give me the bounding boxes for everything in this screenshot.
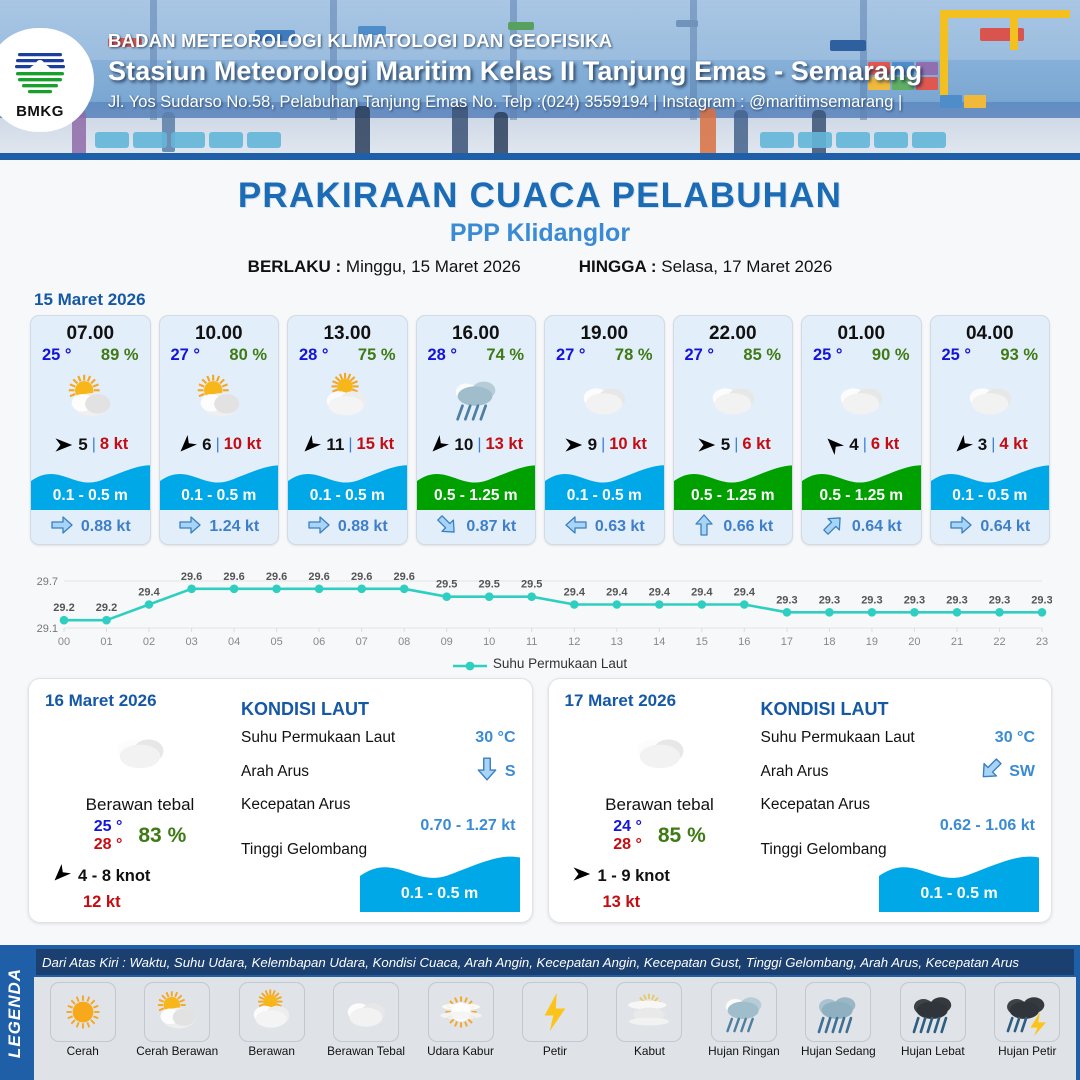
svg-text:06: 06 <box>313 636 325 648</box>
card-wave-height: 0.1 - 0.5 m <box>288 487 407 505</box>
panel-temp-col: 24 ° 28 ° <box>613 818 642 855</box>
card-separator: | <box>92 436 96 454</box>
svg-text:29.4: 29.4 <box>138 587 160 599</box>
svg-text:29.6: 29.6 <box>223 571 244 583</box>
card-current-row: 0.64 kt <box>931 510 1050 544</box>
card-time: 19.00 <box>545 316 664 345</box>
wind-direction-icon <box>51 864 71 889</box>
panel-condition: Berawan tebal <box>565 795 755 815</box>
legend-item-label: Berawan <box>248 1045 295 1057</box>
card-current-row: 0.63 kt <box>545 510 664 544</box>
card-wind-row: 11 | 15 kt <box>288 429 407 460</box>
berawan-tebal-icon <box>674 367 793 429</box>
svg-text:17: 17 <box>781 636 793 648</box>
svg-text:22: 22 <box>993 636 1005 648</box>
svg-text:29.2: 29.2 <box>96 602 117 614</box>
svg-text:29.4: 29.4 <box>734 587 756 599</box>
current-direction-icon <box>564 513 588 542</box>
legend-bar: LEGENDA Dari Atas Kiri : Waktu, Suhu Uda… <box>0 945 1080 1080</box>
card-wind-row: 3 | 4 kt <box>931 429 1050 460</box>
legend-item-row: Cerah Cerah Berawan Berawan Berawan Teba… <box>34 977 1076 1080</box>
hujan-sedang-icon <box>805 982 871 1042</box>
svg-text:08: 08 <box>398 636 410 648</box>
sst-chart-svg: 29.729.129.20029.20129.40229.60329.60429… <box>28 557 1052 652</box>
sst-row: Suhu Permukaan Laut 30 °C <box>241 729 516 747</box>
sst-label: Suhu Permukaan Laut <box>761 729 915 747</box>
card-wave-block: 0.5 - 1.25 m <box>674 460 793 510</box>
card-wave-height: 0.5 - 1.25 m <box>802 487 921 505</box>
svg-text:29.6: 29.6 <box>266 571 287 583</box>
current-direction-icon <box>178 513 202 542</box>
legend-item: Cerah Berawan <box>132 982 221 1078</box>
page-header: BMKG BADAN METEOROLOGI KLIMATOLOGI DAN G… <box>0 0 1080 160</box>
hujan-ringan-icon <box>711 982 777 1042</box>
svg-text:29.3: 29.3 <box>1031 594 1052 606</box>
card-gust: 6 kt <box>871 435 899 454</box>
agency-name: BADAN METEOROLOGI KLIMATOLOGI DAN GEOFIS… <box>108 30 1058 52</box>
berawan-tebal-icon <box>931 367 1050 429</box>
current-direction-icon <box>949 513 973 542</box>
card-gust: 10 kt <box>609 435 647 454</box>
card-wind-speed: 3 <box>978 435 987 455</box>
sea-condition-title: KONDISI LAUT <box>241 699 516 720</box>
legend-side-label: LEGENDA <box>0 945 30 1080</box>
panel-wind-row: 4 - 8 knot <box>45 864 235 889</box>
current-speed-row: Kecepatan Arus 0.70 - 1.27 kt <box>241 796 516 835</box>
card-gust: 15 kt <box>357 435 395 454</box>
card-temperature: 25 ° <box>813 346 843 365</box>
petir-icon <box>522 982 588 1042</box>
card-current-speed: 0.64 kt <box>852 518 902 536</box>
legend-item-label: Petir <box>543 1045 567 1057</box>
forecast-card[interactable]: 10.00 27 ° 80 % 6 | 10 kt 0.1 - 0.5 m 1.… <box>159 315 280 545</box>
current-direction-value: SW <box>1009 763 1035 781</box>
hingga-label: HINGGA : <box>579 257 657 276</box>
wind-direction-icon <box>52 435 74 455</box>
panel-date: 16 Maret 2026 <box>45 691 235 711</box>
svg-text:19: 19 <box>866 636 878 648</box>
legend-item: Cerah <box>38 982 127 1078</box>
chart-legend-marker-icon <box>453 659 487 669</box>
udara-kabur-icon <box>428 982 494 1042</box>
card-humidity: 80 % <box>229 346 267 365</box>
berawan-icon <box>288 367 407 429</box>
sst-value: 30 °C <box>475 729 515 747</box>
card-wind-row: 4 | 6 kt <box>802 429 921 460</box>
forecast-card-row: 07.00 25 ° 89 % 5 | 8 kt 0.1 - 0.5 m 0.8… <box>0 315 1080 545</box>
card-wave-block: 0.1 - 0.5 m <box>545 460 664 510</box>
card-wind-speed: 9 <box>588 435 597 455</box>
panel-temp-humidity: 24 ° 28 ° 85 % <box>565 818 755 855</box>
card-time: 16.00 <box>417 316 536 345</box>
card-temperature: 28 ° <box>299 346 329 365</box>
legend-item-label: Berawan Tebal <box>327 1045 405 1057</box>
current-direction-icon <box>978 756 1004 787</box>
card-humidity: 85 % <box>743 346 781 365</box>
current-speed-label: Kecepatan Arus <box>761 796 1036 814</box>
svg-text:29.3: 29.3 <box>776 594 797 606</box>
current-direction-icon <box>821 513 845 542</box>
panel-temp-max: 28 ° <box>94 836 123 854</box>
panel-left: 17 Maret 2026 Berawan tebal 24 ° 28 ° 85… <box>565 691 755 910</box>
svg-text:29.6: 29.6 <box>181 571 202 583</box>
svg-text:29.6: 29.6 <box>351 571 372 583</box>
bmkg-logo-text: BMKG <box>5 103 75 120</box>
card-separator: | <box>477 436 481 454</box>
card-wind-row: 9 | 10 kt <box>545 429 664 460</box>
card-humidity: 93 % <box>1000 346 1038 365</box>
card-current-row: 0.64 kt <box>802 510 921 544</box>
svg-text:15: 15 <box>696 636 708 648</box>
legend-item-label: Hujan Ringan <box>708 1045 779 1057</box>
card-time: 01.00 <box>802 316 921 345</box>
card-temp-humidity: 27 ° 85 % <box>674 345 793 365</box>
svg-text:18: 18 <box>823 636 835 648</box>
kabut-icon <box>616 982 682 1042</box>
card-wind-row: 5 | 8 kt <box>31 429 150 460</box>
page-title: PRAKIRAAN CUACA PELABUHAN <box>0 176 1080 216</box>
forecast-card[interactable]: 04.00 25 ° 93 % 3 | 4 kt 0.1 - 0.5 m 0.6… <box>930 315 1051 545</box>
card-current-row: 0.88 kt <box>288 510 407 544</box>
svg-text:29.6: 29.6 <box>393 571 414 583</box>
card-wind-speed: 10 <box>454 435 473 455</box>
validity-row: BERLAKU : Minggu, 15 Maret 2026 HINGGA :… <box>0 257 1080 277</box>
card-current-speed: 0.88 kt <box>338 518 388 536</box>
panel-wave-block: 0.1 - 0.5 m <box>879 850 1039 912</box>
berlaku-value: Minggu, 15 Maret 2026 <box>346 257 521 276</box>
card-current-speed: 0.87 kt <box>466 518 516 536</box>
card-temperature: 25 ° <box>942 346 972 365</box>
chart-legend: Suhu Permukaan Laut <box>0 656 1080 671</box>
card-separator: | <box>863 436 867 454</box>
card-gust: 13 kt <box>485 435 523 454</box>
svg-text:29.5: 29.5 <box>478 579 499 591</box>
current-direction-row: Arah Arus SW <box>761 756 1036 787</box>
current-speed-label: Kecepatan Arus <box>241 796 516 814</box>
card-temp-humidity: 27 ° 80 % <box>160 345 279 365</box>
card-wind-speed: 11 <box>326 435 344 455</box>
card-current-row: 0.87 kt <box>417 510 536 544</box>
card-wave-block: 0.5 - 1.25 m <box>417 460 536 510</box>
card-current-speed: 0.66 kt <box>723 518 773 536</box>
card-wave-block: 0.1 - 0.5 m <box>931 460 1050 510</box>
card-wind-speed: 5 <box>78 435 87 455</box>
panel-condition: Berawan tebal <box>45 795 235 815</box>
panel-wind-range: 1 - 9 knot <box>598 867 670 886</box>
panel-wind-row: 1 - 9 knot <box>565 864 755 889</box>
bmkg-logo-mark <box>9 40 71 102</box>
card-humidity: 90 % <box>872 346 910 365</box>
card-humidity: 78 % <box>615 346 653 365</box>
card-temp-humidity: 28 ° 74 % <box>417 345 536 365</box>
berawan-tebal-icon <box>802 367 921 429</box>
card-gust: 4 kt <box>999 435 1027 454</box>
svg-text:21: 21 <box>951 636 963 648</box>
berawan-tebal-icon <box>545 367 664 429</box>
svg-text:07: 07 <box>356 636 368 648</box>
chair-icon <box>247 132 281 148</box>
header-text-block: BADAN METEOROLOGI KLIMATOLOGI DAN GEOFIS… <box>108 30 1058 112</box>
legend-item: Berawan Tebal <box>321 982 410 1078</box>
card-separator: | <box>348 436 352 454</box>
boat-icon <box>508 22 534 30</box>
card-wave-block: 0.1 - 0.5 m <box>31 460 150 510</box>
card-temperature: 28 ° <box>428 346 458 365</box>
legend-item-label: Hujan Petir <box>998 1045 1056 1057</box>
panel-left: 16 Maret 2026 Berawan tebal 25 ° 28 ° 83… <box>45 691 235 910</box>
card-humidity: 75 % <box>358 346 396 365</box>
sst-row: Suhu Permukaan Laut 30 °C <box>761 729 1036 747</box>
legend-item: Petir <box>510 982 599 1078</box>
cerah-berawan-icon <box>144 982 210 1042</box>
person-silhouette <box>734 110 748 156</box>
current-direction-row: Arah Arus S <box>241 756 516 787</box>
current-speed-row: Kecepatan Arus 0.62 - 1.06 kt <box>761 796 1036 835</box>
legend-item: Hujan Lebat <box>888 982 977 1078</box>
sst-chart: 29.729.129.20029.20129.40229.60329.60429… <box>28 557 1052 652</box>
svg-text:00: 00 <box>58 636 70 648</box>
card-temperature: 27 ° <box>556 346 586 365</box>
card-wind-speed: 4 <box>849 435 858 455</box>
current-direction-icon <box>474 756 500 787</box>
legend-item-label: Udara Kabur <box>427 1045 494 1057</box>
svg-text:03: 03 <box>185 636 197 648</box>
current-direction-label: Arah Arus <box>241 763 309 781</box>
wind-direction-icon <box>300 435 322 455</box>
current-direction-value: S <box>505 763 516 781</box>
panel-temp-min: 25 ° <box>94 818 123 836</box>
daily-panel-row: 16 Maret 2026 Berawan tebal 25 ° 28 ° 83… <box>0 671 1080 923</box>
station-address: Jl. Yos Sudarso No.58, Pelabuhan Tanjung… <box>108 93 1058 112</box>
svg-text:29.5: 29.5 <box>436 579 457 591</box>
card-wave-height: 0.5 - 1.25 m <box>674 487 793 505</box>
panel-wave-block: 0.1 - 0.5 m <box>360 850 520 912</box>
panel-wave-value: 0.1 - 0.5 m <box>879 885 1039 903</box>
berlaku-group: BERLAKU : Minggu, 15 Maret 2026 <box>248 257 521 277</box>
boat-icon <box>676 20 698 27</box>
card-gust: 10 kt <box>224 435 262 454</box>
panel-temp-min: 24 ° <box>613 818 642 836</box>
legend-item: Hujan Petir <box>983 982 1072 1078</box>
card-temp-humidity: 25 ° 89 % <box>31 345 150 365</box>
svg-text:20: 20 <box>908 636 920 648</box>
cerah-berawan-icon <box>31 367 150 429</box>
forecast-card[interactable]: 16.00 28 ° 74 % 10 | 13 kt 0.5 - 1.25 m … <box>416 315 537 545</box>
card-temp-humidity: 28 ° 75 % <box>288 345 407 365</box>
forecast-card[interactable]: 01.00 25 ° 90 % 4 | 6 kt 0.5 - 1.25 m 0.… <box>801 315 922 545</box>
berawan-tebal-icon <box>565 717 755 783</box>
legend-item: Hujan Ringan <box>699 982 788 1078</box>
panel-temp-col: 25 ° 28 ° <box>94 818 123 855</box>
legend-item-label: Cerah <box>67 1045 99 1057</box>
chair-icon <box>912 132 946 148</box>
svg-text:23: 23 <box>1036 636 1048 648</box>
card-temp-humidity: 27 ° 78 % <box>545 345 664 365</box>
svg-text:29.2: 29.2 <box>53 602 74 614</box>
svg-text:29.4: 29.4 <box>564 587 586 599</box>
chair-icon <box>760 132 794 148</box>
svg-text:16: 16 <box>738 636 750 648</box>
chair-icon <box>171 132 205 148</box>
forecast-card[interactable]: 13.00 28 ° 75 % 11 | 15 kt 0.1 - 0.5 m 0… <box>287 315 408 545</box>
panel-temp-max: 28 ° <box>613 836 642 854</box>
card-wind-row: 6 | 10 kt <box>160 429 279 460</box>
card-gust: 8 kt <box>100 435 128 454</box>
chair-icon <box>874 132 908 148</box>
card-current-row: 0.66 kt <box>674 510 793 544</box>
svg-text:11: 11 <box>526 636 537 648</box>
svg-text:29.3: 29.3 <box>989 594 1010 606</box>
card-separator: | <box>216 436 220 454</box>
card-current-speed: 0.64 kt <box>980 518 1030 536</box>
panel-right: KONDISI LAUT Suhu Permukaan Laut 30 °C A… <box>235 691 516 910</box>
wind-direction-icon <box>176 435 198 455</box>
legend-item-label: Hujan Sedang <box>801 1045 876 1057</box>
svg-text:29.5: 29.5 <box>521 579 542 591</box>
panel-humidity: 85 % <box>658 824 706 848</box>
card-gust: 6 kt <box>742 435 770 454</box>
card-wave-height: 0.1 - 0.5 m <box>160 487 279 505</box>
cerah-icon <box>50 982 116 1042</box>
daily-panel: 17 Maret 2026 Berawan tebal 24 ° 28 ° 85… <box>548 678 1053 923</box>
card-wind-speed: 6 <box>202 435 211 455</box>
panel-humidity: 83 % <box>138 824 186 848</box>
wind-direction-icon <box>823 435 845 455</box>
panel-temp-humidity: 25 ° 28 ° 83 % <box>45 818 235 855</box>
card-wave-height: 0.1 - 0.5 m <box>545 487 664 505</box>
hujan-ringan-icon <box>417 367 536 429</box>
svg-text:29.3: 29.3 <box>946 594 967 606</box>
daily-panel: 16 Maret 2026 Berawan tebal 25 ° 28 ° 83… <box>28 678 533 923</box>
svg-text:29.3: 29.3 <box>819 594 840 606</box>
card-temperature: 27 ° <box>685 346 715 365</box>
panel-wind-range: 4 - 8 knot <box>78 867 150 886</box>
legend-item: Udara Kabur <box>416 982 505 1078</box>
berawan-tebal-icon <box>333 982 399 1042</box>
chair-icon <box>95 132 129 148</box>
svg-text:29.4: 29.4 <box>691 587 713 599</box>
legend-item: Berawan <box>227 982 316 1078</box>
panel-wave-value: 0.1 - 0.5 m <box>360 885 520 903</box>
card-time: 10.00 <box>160 316 279 345</box>
berlaku-label: BERLAKU : <box>248 257 342 276</box>
forecast-date-label: 15 Maret 2026 <box>34 290 1080 310</box>
hingga-value: Selasa, 17 Maret 2026 <box>661 257 832 276</box>
svg-text:05: 05 <box>270 636 282 648</box>
card-wind-row: 5 | 6 kt <box>674 429 793 460</box>
cerah-berawan-icon <box>160 367 279 429</box>
card-wave-height: 0.1 - 0.5 m <box>931 487 1050 505</box>
wind-direction-icon <box>562 435 584 455</box>
current-direction-group: SW <box>978 756 1035 787</box>
hujan-lebat-icon <box>900 982 966 1042</box>
card-time: 04.00 <box>931 316 1050 345</box>
card-wave-block: 0.1 - 0.5 m <box>288 460 407 510</box>
card-wave-height: 0.5 - 1.25 m <box>417 487 536 505</box>
svg-text:10: 10 <box>483 636 495 648</box>
svg-text:01: 01 <box>100 636 112 648</box>
legend-note: Dari Atas Kiri : Waktu, Suhu Udara, Kele… <box>36 949 1074 975</box>
forecast-card[interactable]: 22.00 27 ° 85 % 5 | 6 kt 0.5 - 1.25 m 0.… <box>673 315 794 545</box>
svg-text:29.4: 29.4 <box>606 587 628 599</box>
sst-value: 30 °C <box>995 729 1035 747</box>
hujan-petir-icon <box>994 982 1060 1042</box>
panel-gust: 13 kt <box>565 893 755 912</box>
current-direction-label: Arah Arus <box>761 763 829 781</box>
current-direction-icon <box>435 513 459 542</box>
forecast-card[interactable]: 07.00 25 ° 89 % 5 | 8 kt 0.1 - 0.5 m 0.8… <box>30 315 151 545</box>
legend-item-label: Kabut <box>634 1045 665 1057</box>
hingga-group: HINGGA : Selasa, 17 Maret 2026 <box>579 257 833 277</box>
svg-text:04: 04 <box>228 636 240 648</box>
card-temperature: 27 ° <box>171 346 201 365</box>
card-current-speed: 1.24 kt <box>209 518 259 536</box>
card-current-row: 0.88 kt <box>31 510 150 544</box>
page-subtitle: PPP Klidanglor <box>0 219 1080 248</box>
current-speed-value: 0.62 - 1.06 kt <box>761 817 1036 835</box>
berawan-icon <box>239 982 305 1042</box>
card-wave-height: 0.1 - 0.5 m <box>31 487 150 505</box>
svg-text:14: 14 <box>653 636 665 648</box>
card-time: 07.00 <box>31 316 150 345</box>
card-wave-block: 0.5 - 1.25 m <box>802 460 921 510</box>
card-temp-humidity: 25 ° 93 % <box>931 345 1050 365</box>
svg-text:02: 02 <box>143 636 155 648</box>
chair-icon <box>133 132 167 148</box>
card-separator: | <box>734 436 738 454</box>
legend-item-label: Cerah Berawan <box>136 1045 218 1057</box>
wind-direction-icon <box>428 435 450 455</box>
chair-icon <box>836 132 870 148</box>
svg-text:29.6: 29.6 <box>308 571 329 583</box>
card-wind-speed: 5 <box>721 435 730 455</box>
chair-icon <box>798 132 832 148</box>
sst-label: Suhu Permukaan Laut <box>241 729 395 747</box>
svg-text:29.3: 29.3 <box>861 594 882 606</box>
card-temperature: 25 ° <box>42 346 72 365</box>
chair-icon <box>209 132 243 148</box>
svg-text:09: 09 <box>441 636 453 648</box>
current-direction-icon <box>692 513 716 542</box>
card-separator: | <box>991 436 995 454</box>
station-name: Stasiun Meteorologi Maritim Kelas II Tan… <box>108 56 1058 87</box>
panel-date: 17 Maret 2026 <box>565 691 755 711</box>
current-direction-icon <box>50 513 74 542</box>
sea-condition-title: KONDISI LAUT <box>761 699 1036 720</box>
card-current-speed: 0.88 kt <box>81 518 131 536</box>
person-silhouette <box>494 112 508 156</box>
card-wave-block: 0.1 - 0.5 m <box>160 460 279 510</box>
svg-text:13: 13 <box>611 636 623 648</box>
person-silhouette <box>700 108 716 156</box>
card-humidity: 74 % <box>486 346 524 365</box>
card-wind-row: 10 | 13 kt <box>417 429 536 460</box>
card-separator: | <box>601 436 605 454</box>
chart-legend-label: Suhu Permukaan Laut <box>493 656 627 671</box>
card-current-speed: 0.63 kt <box>595 518 645 536</box>
legend-item-label: Hujan Lebat <box>901 1045 965 1057</box>
card-time: 22.00 <box>674 316 793 345</box>
current-speed-value: 0.70 - 1.27 kt <box>241 817 516 835</box>
forecast-card[interactable]: 19.00 27 ° 78 % 9 | 10 kt 0.1 - 0.5 m 0.… <box>544 315 665 545</box>
card-humidity: 89 % <box>101 346 139 365</box>
current-direction-group: S <box>474 756 516 787</box>
legend-item: Hujan Sedang <box>794 982 883 1078</box>
wind-direction-icon <box>952 435 974 455</box>
wind-direction-icon <box>695 435 717 455</box>
svg-text:12: 12 <box>568 636 580 648</box>
current-direction-icon <box>307 513 331 542</box>
